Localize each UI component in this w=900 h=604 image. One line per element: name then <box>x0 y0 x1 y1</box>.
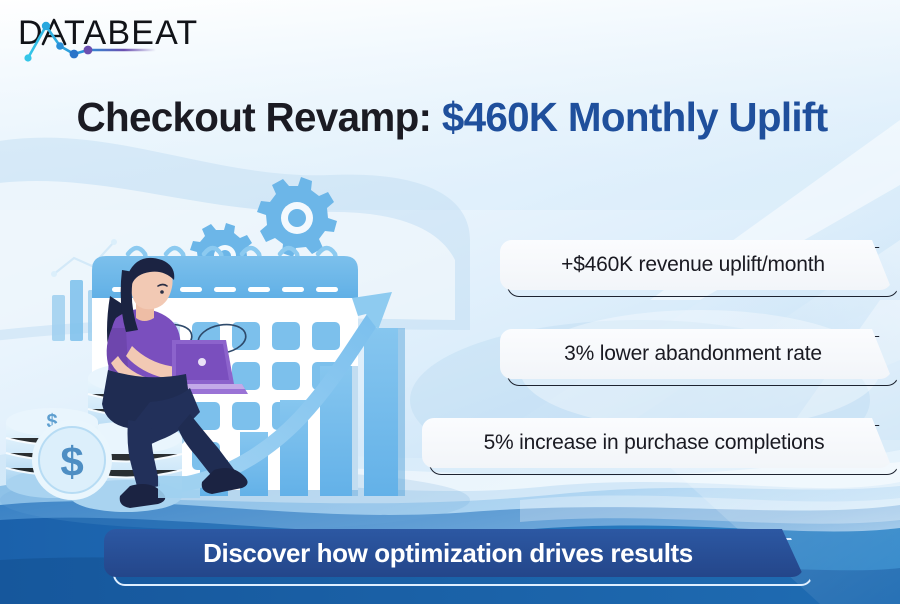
callout-body: 3% lower abandonment rate <box>500 329 892 379</box>
callout-pill[interactable]: 3% lower abandonment rate <box>500 329 892 379</box>
hero-illustration: $ <box>0 170 470 530</box>
callout-label: 3% lower abandonment rate <box>564 342 822 366</box>
page-title: Checkout Revamp: $460K Monthly Uplift <box>17 96 888 139</box>
infographic-poster: D TABEAT Checkout Revamp: $460K Monthly … <box>0 0 900 604</box>
cta-body: Discover how optimization drives results <box>104 529 804 577</box>
svg-text:D: D <box>18 14 44 52</box>
callout-pill[interactable]: 5% increase in purchase completions <box>422 418 892 468</box>
svg-text:TABEAT: TABEAT <box>64 14 198 52</box>
line-chart-logo-icon: D TABEAT <box>16 10 226 68</box>
callout-pill[interactable]: +$460K revenue uplift/month <box>500 240 892 290</box>
callout-body: +$460K revenue uplift/month <box>500 240 892 290</box>
cta-banner[interactable]: Discover how optimization drives results <box>104 529 804 577</box>
brand-logo[interactable]: D TABEAT <box>16 10 226 68</box>
headline-part-blue: $460K Monthly Uplift <box>431 94 827 140</box>
dollar-coin: $ <box>32 420 112 500</box>
cta-label: Discover how optimization drives results <box>203 538 693 569</box>
svg-text:$: $ <box>60 438 83 485</box>
callout-body: 5% increase in purchase completions <box>422 418 892 468</box>
callout-label: +$460K revenue uplift/month <box>561 253 825 277</box>
callout-label: 5% increase in purchase completions <box>484 431 825 455</box>
gear-large <box>257 177 337 257</box>
headline-part-dark: Checkout Revamp: <box>77 94 432 140</box>
